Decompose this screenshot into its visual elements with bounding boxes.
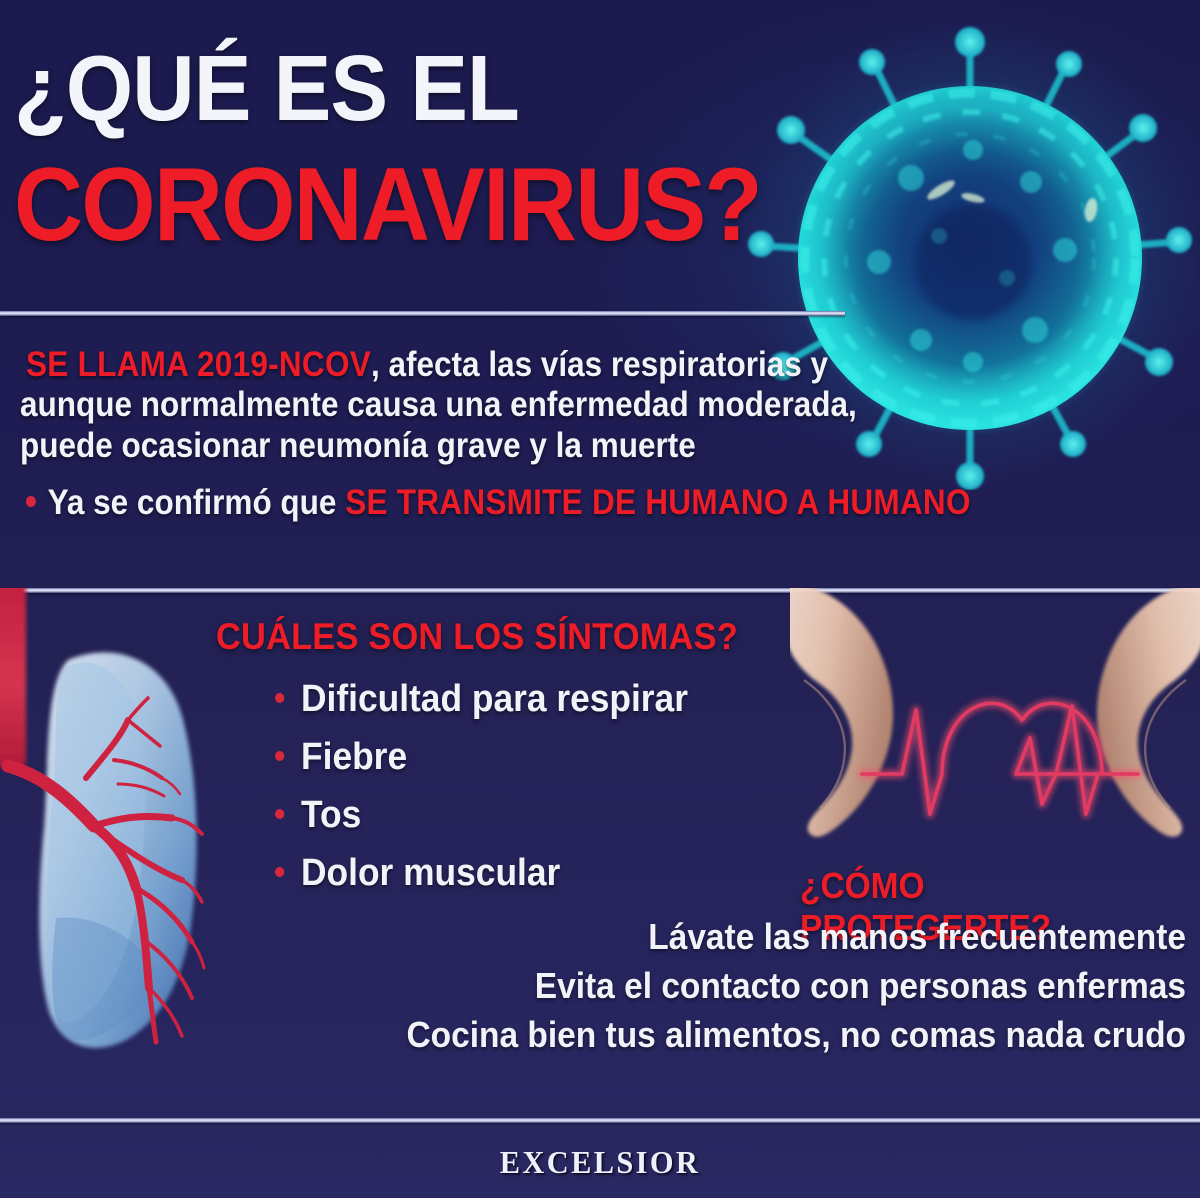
page-title-line2: CORONAVIRUS?	[14, 158, 761, 254]
transmission-prefix: Ya se confirmó que	[48, 483, 346, 522]
symptom-label: Tos	[301, 794, 361, 836]
bullet-dot-icon	[275, 867, 284, 877]
list-item: Evita el contacto con personas enfermas	[83, 967, 1186, 1005]
brand-logo: EXCELSIOR	[30, 1144, 1170, 1181]
transmission-highlight: SE TRANSMITE DE HUMANO A HUMANO	[345, 483, 971, 522]
bullet-dot-icon	[26, 496, 36, 507]
list-item: Dificultad para respirar	[275, 680, 688, 718]
page-title-line1: ¿QUÉ ES EL	[14, 46, 519, 132]
list-item: Tos	[275, 796, 688, 834]
bullet-dot-icon	[275, 693, 284, 703]
intro-line-2: aunque normalmente causa una enfermedad …	[20, 385, 857, 426]
header-section: ¿QUÉ ES EL CORONAVIRUS?	[0, 0, 1200, 311]
intro-line-3: puede ocasionar neumonía grave y la muer…	[20, 426, 696, 467]
virus-name-highlight: SE LLAMA 2019-NCOV	[26, 345, 371, 384]
intro-line-1-rest: , afecta las vías respiratorias y	[371, 345, 828, 384]
hands-svg	[790, 588, 1200, 898]
symptom-label: Fiebre	[301, 736, 407, 778]
hands-heartbeat-icon	[790, 588, 1200, 898]
intro-transmission-line: Ya se confirmó que SE TRANSMITE DE HUMAN…	[26, 483, 971, 524]
bullet-dot-icon	[275, 809, 284, 819]
footer-section: EXCELSIOR	[0, 1118, 1200, 1198]
main-section: CUÁLES SON LOS SÍNTOMAS? Dificultad para…	[0, 588, 1200, 1118]
bullet-dot-icon	[275, 751, 284, 761]
intro-line-1: SE LLAMA 2019-NCOV, afecta las vías resp…	[26, 345, 828, 386]
infographic-poster: ¿QUÉ ES EL CORONAVIRUS?	[0, 0, 1200, 1198]
list-item: Fiebre	[275, 738, 688, 776]
list-item: Lávate las manos frecuentemente	[83, 918, 1186, 956]
intro-section: SE LLAMA 2019-NCOV, afecta las vías resp…	[0, 311, 1200, 588]
list-item: Cocina bien tus alimentos, no comas nada…	[83, 1016, 1186, 1054]
symptoms-heading: CUÁLES SON LOS SÍNTOMAS?	[216, 616, 738, 658]
protection-list: Lávate las manos frecuentemente Evita el…	[0, 918, 1186, 1065]
symptom-label: Dificultad para respirar	[301, 678, 688, 720]
symptom-label: Dolor muscular	[301, 852, 560, 894]
symptoms-list: Dificultad para respirar Fiebre Tos Dolo…	[275, 680, 719, 912]
list-item: Dolor muscular	[275, 854, 688, 892]
